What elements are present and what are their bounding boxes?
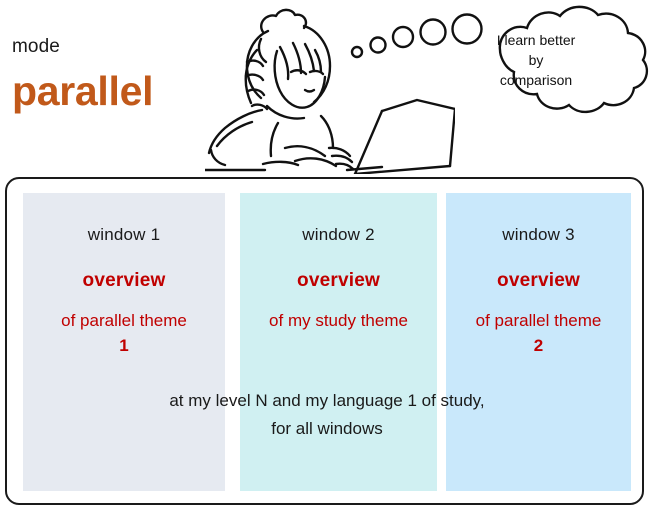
thought-bubble-line-1: I learn better [466, 30, 606, 50]
window-heading-2: overview [240, 270, 437, 292]
thought-bubble-line-2: by [466, 50, 606, 70]
window-title-1: window 1 [23, 225, 225, 245]
thought-bubble-line-3: comparison [466, 70, 606, 90]
window-panel-3[interactable]: window 3 overview of parallel theme 2 [446, 193, 631, 491]
header: mode parallel [0, 0, 656, 175]
window-title-2: window 2 [240, 225, 437, 245]
window-title-3: window 3 [446, 225, 631, 245]
thought-bubble-text: I learn better by comparison [466, 30, 606, 90]
mode-label: mode [12, 36, 60, 58]
window-heading-3: overview [446, 270, 631, 292]
window-description-3: of parallel theme [446, 308, 631, 333]
window-description-1: of parallel theme [23, 308, 225, 333]
window-heading-1: overview [23, 270, 225, 292]
mode-value: parallel [12, 68, 153, 115]
window-number-3: 2 [446, 333, 631, 358]
window-panel-1[interactable]: window 1 overview of parallel theme 1 [23, 193, 225, 491]
window-number-1: 1 [23, 333, 225, 358]
window-panel-2[interactable]: window 2 overview of my study theme [240, 193, 437, 491]
windows-container: window 1 overview of parallel theme 1 wi… [5, 177, 644, 505]
window-description-2: of my study theme [240, 308, 437, 333]
